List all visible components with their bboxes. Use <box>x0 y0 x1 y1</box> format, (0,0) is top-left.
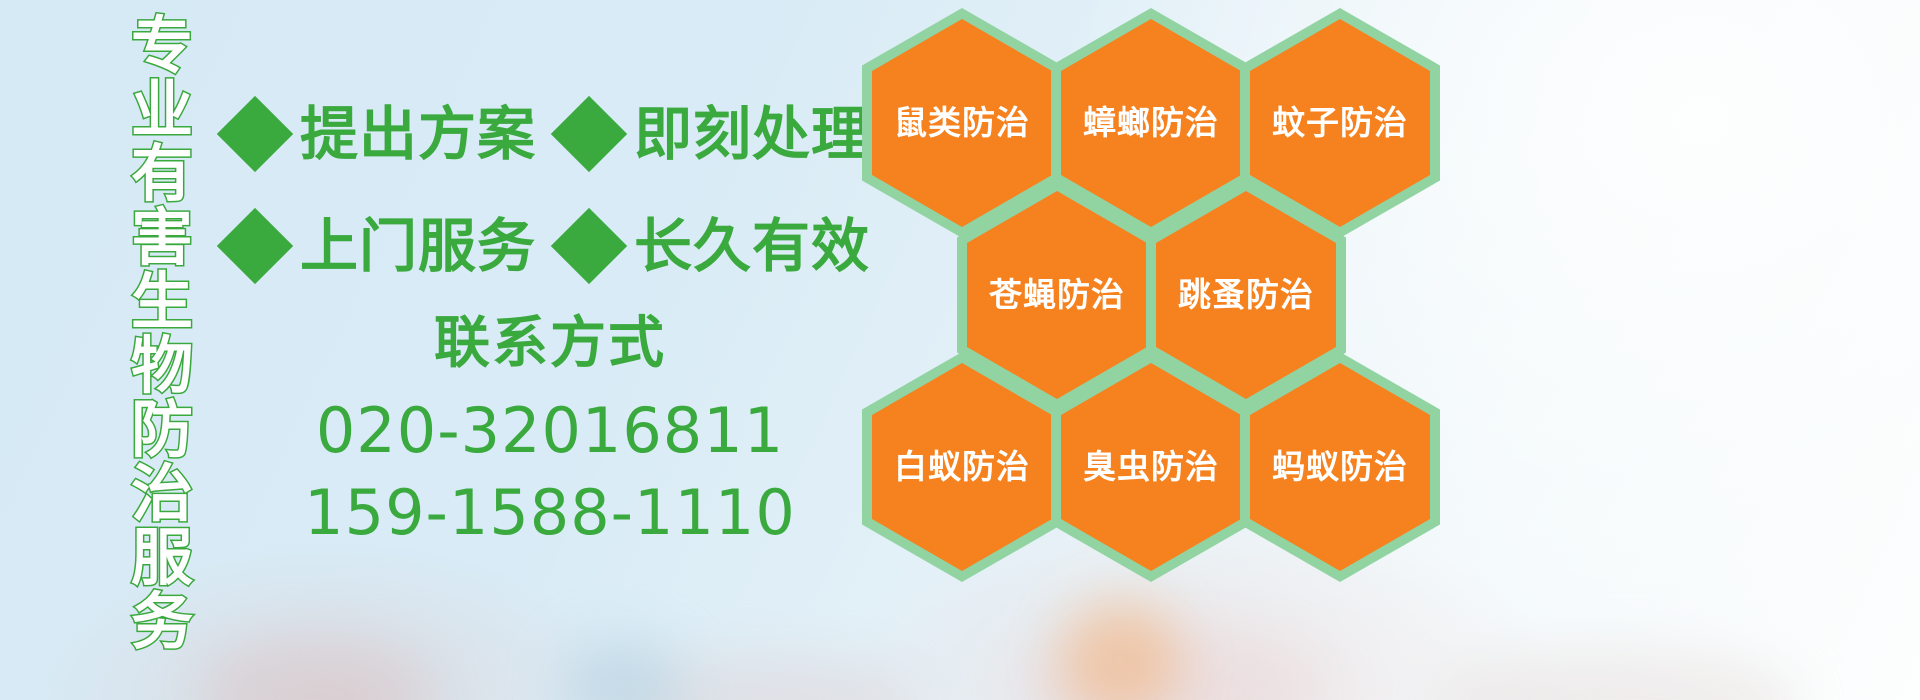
diamond-icon <box>551 96 627 172</box>
service-hexagon-label: 臭虫防治 <box>1083 450 1219 484</box>
feature-item-door-to-door-service: 上门服务 <box>228 217 536 275</box>
contact-phone-landline[interactable]: 020-32016811 <box>300 390 800 472</box>
feature-row: 提出方案 即刻处理 <box>228 78 868 190</box>
service-hexagon-label: 蚊子防治 <box>1272 106 1408 140</box>
service-hexagon-termite-control[interactable]: 白蚁防治 <box>862 352 1062 582</box>
background-haze-blob <box>560 640 680 700</box>
service-hexagon-grid: 鼠类防治 蟑螂防治 蚊子防治 苍蝇防治 跳蚤防治 <box>862 0 1462 700</box>
vertical-slogan-char: 生 <box>131 270 193 334</box>
diamond-icon <box>217 96 293 172</box>
feature-item-propose-plan: 提出方案 <box>228 105 536 163</box>
feature-item-immediate-handling: 即刻处理 <box>562 105 870 163</box>
background-haze-blob <box>1440 650 1800 700</box>
feature-list: 提出方案 即刻处理 上门服务 长久有效 <box>228 78 868 302</box>
contact-phone-mobile[interactable]: 159-1588-1110 <box>300 472 800 554</box>
vertical-slogan-char: 防 <box>131 398 193 462</box>
feature-label: 长久有效 <box>634 217 870 275</box>
vertical-slogan-char: 服 <box>131 526 193 590</box>
service-hexagon-ant-control[interactable]: 蚂蚁防治 <box>1240 352 1440 582</box>
feature-row: 上门服务 长久有效 <box>228 190 868 302</box>
service-hexagon-label: 蟑螂防治 <box>1083 106 1219 140</box>
vertical-slogan-char: 物 <box>131 334 193 398</box>
feature-label: 即刻处理 <box>634 105 870 163</box>
vertical-slogan-char: 专 <box>131 14 193 78</box>
feature-item-long-lasting-effect: 长久有效 <box>562 217 870 275</box>
service-hexagon-label: 蚂蚁防治 <box>1272 450 1408 484</box>
feature-label: 上门服务 <box>300 217 536 275</box>
service-hexagon-label: 跳蚤防治 <box>1178 278 1314 312</box>
vertical-slogan-char: 害 <box>131 206 193 270</box>
contact-block: 联系方式 020-32016811 159-1588-1110 <box>300 312 800 554</box>
vertical-slogan-char: 业 <box>131 78 193 142</box>
vertical-slogan-char: 务 <box>131 590 193 654</box>
vertical-slogan: 专 业 有 害 生 物 防 治 服 务 <box>108 14 216 674</box>
vertical-slogan-char: 有 <box>131 142 193 206</box>
service-hexagon-bedbug-control[interactable]: 臭虫防治 <box>1051 352 1251 582</box>
service-hexagon-label: 白蚁防治 <box>894 450 1030 484</box>
vertical-slogan-char: 治 <box>131 462 193 526</box>
diamond-icon <box>217 208 293 284</box>
contact-title: 联系方式 <box>300 312 800 376</box>
service-hexagon-label: 鼠类防治 <box>894 106 1030 140</box>
diamond-icon <box>551 208 627 284</box>
feature-label: 提出方案 <box>300 105 536 163</box>
background-haze-blob <box>200 640 430 700</box>
pest-control-banner: 专 业 有 害 生 物 防 治 服 务 提出方案 即刻处理 上门服务 <box>0 0 1920 700</box>
service-hexagon-label: 苍蝇防治 <box>989 278 1125 312</box>
